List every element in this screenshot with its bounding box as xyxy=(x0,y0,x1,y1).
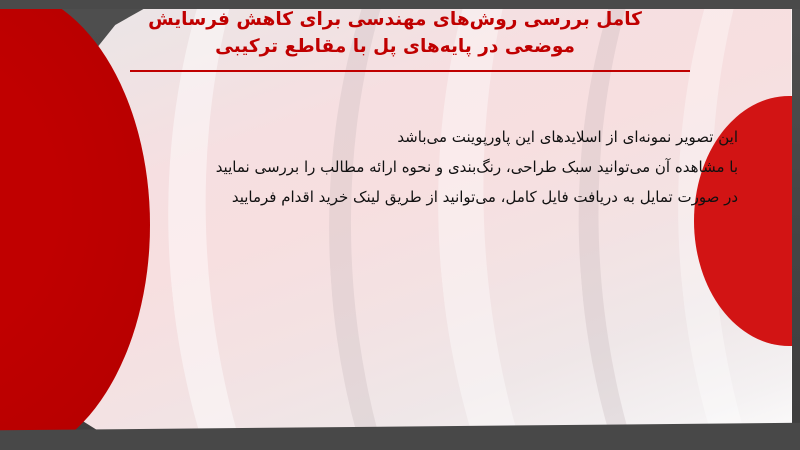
slide-body-line-1: این تصویر نمونه‌ای از اسلایدهای این پاور… xyxy=(98,122,738,152)
slide-body-line-3: در صورت تمایل به دریافت فایل کامل، می‌تو… xyxy=(98,182,738,212)
slide-body-line-2: با مشاهده آن می‌توانید سبک طراحی، رنگ‌بن… xyxy=(98,152,738,182)
slide-title: کامل بررسی روش‌های مهندسی برای کاهش فرسا… xyxy=(90,6,700,60)
slide-body: این تصویر نمونه‌ای از اسلایدهای این پاور… xyxy=(98,122,738,212)
slide-title-line-1: کامل بررسی روش‌های مهندسی برای کاهش فرسا… xyxy=(90,6,700,33)
title-underline xyxy=(130,70,690,72)
slide-title-line-2: موضعی در پایه‌های پل با مقاطع ترکیبی xyxy=(90,33,700,60)
frame-top-band xyxy=(0,0,800,9)
presentation-slide: کامل بررسی روش‌های مهندسی برای کاهش فرسا… xyxy=(0,0,800,450)
